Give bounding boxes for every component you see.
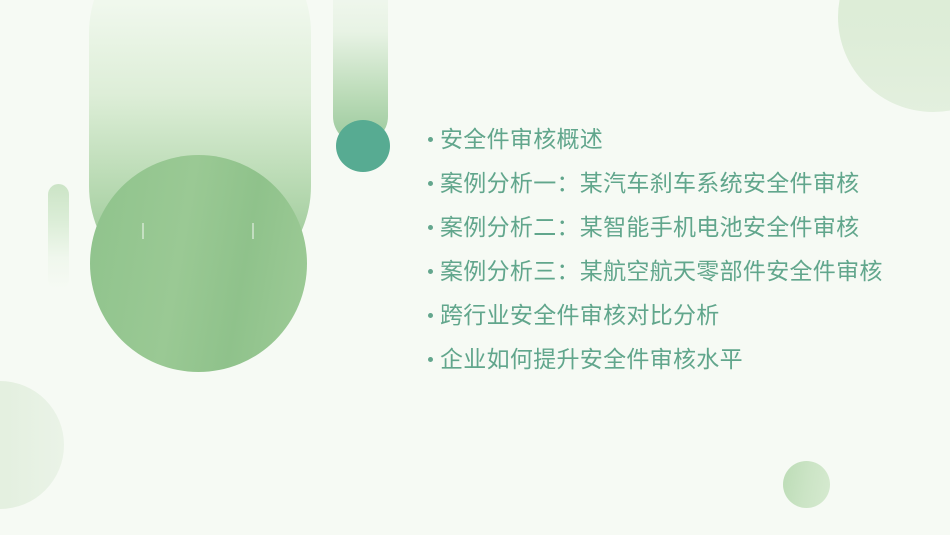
bullet-dot-icon <box>420 337 440 381</box>
agenda-bullet-list: 安全件审核概述 案例分析一：某汽车刹车系统安全件审核 案例分析二：某智能手机电池… <box>420 117 920 381</box>
bullet-dot-icon <box>420 117 440 161</box>
list-item-label: 案例分析三：某航空航天零部件安全件审核 <box>440 249 920 293</box>
bullet-dot-icon <box>420 205 440 249</box>
list-item-label: 安全件审核概述 <box>440 117 920 161</box>
decorative-circle-top-right <box>838 0 950 112</box>
decorative-circle-teal <box>336 120 390 172</box>
list-item: 案例分析三：某航空航天零部件安全件审核 <box>420 249 920 293</box>
list-item: 跨行业安全件审核对比分析 <box>420 293 920 337</box>
list-item: 案例分析二：某智能手机电池安全件审核 <box>420 205 920 249</box>
list-item: 企业如何提升安全件审核水平 <box>420 337 920 381</box>
bullet-dot-icon <box>420 249 440 293</box>
bullet-dot-icon <box>420 293 440 337</box>
decorative-circle-bottom-left <box>0 381 64 509</box>
list-item: 安全件审核概述 <box>420 117 920 161</box>
decorative-hairline-right <box>252 223 254 239</box>
decorative-rounded-rectangle-main <box>89 0 311 297</box>
list-item-label: 案例分析二：某智能手机电池安全件审核 <box>440 205 920 249</box>
decorative-pill-left <box>48 184 69 290</box>
decorative-hairline-left <box>142 223 144 239</box>
list-item-label: 跨行业安全件审核对比分析 <box>440 293 920 337</box>
list-item-label: 企业如何提升安全件审核水平 <box>440 337 920 381</box>
bullet-dot-icon <box>420 161 440 205</box>
list-item-label: 案例分析一：某汽车刹车系统安全件审核 <box>440 161 920 205</box>
decorative-pill-tall <box>333 0 388 144</box>
slide-canvas: 安全件审核概述 案例分析一：某汽车刹车系统安全件审核 案例分析二：某智能手机电池… <box>0 0 950 535</box>
decorative-circle-bottom-right <box>783 461 830 508</box>
decorative-circle-green-large <box>90 155 307 372</box>
list-item: 案例分析一：某汽车刹车系统安全件审核 <box>420 161 920 205</box>
